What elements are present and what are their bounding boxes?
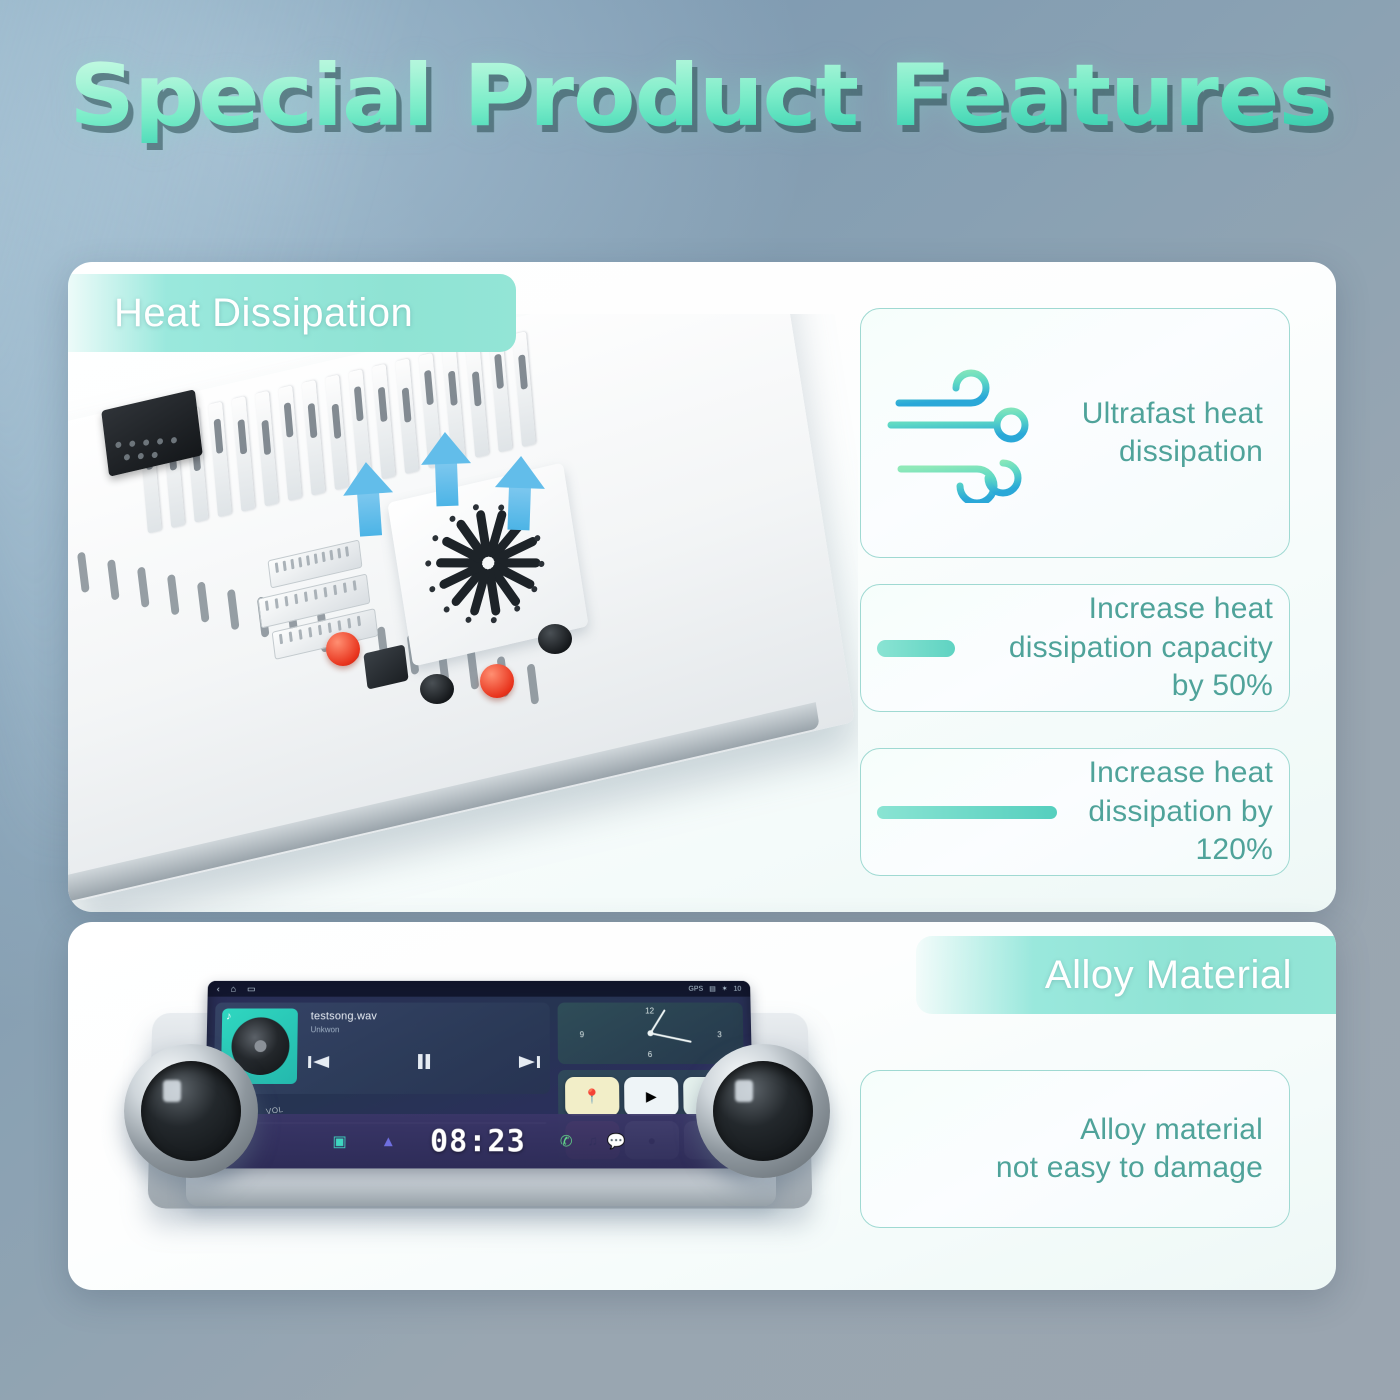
fan-grille-dot bbox=[429, 585, 436, 592]
feature-card-ultrafast-text: Ultrafast heat dissipation bbox=[1035, 395, 1263, 472]
feature-card-alloy-durability-text: Alloy material not easy to damage bbox=[996, 1111, 1263, 1188]
wind-icon bbox=[885, 363, 1035, 503]
fan-grille-dot bbox=[530, 585, 537, 592]
page-title-wrap: Special Product Features bbox=[0, 46, 1400, 146]
clock-center-pin bbox=[647, 1030, 653, 1036]
fan-grille-dot bbox=[425, 560, 432, 567]
capacity-50-line-1: Increase heat bbox=[1089, 592, 1273, 625]
fan-grille-dot bbox=[514, 605, 521, 612]
recents-icon[interactable]: ▭ bbox=[247, 984, 256, 993]
screen-dock-bar: ▣ ▲ 08:23 ✆ 💬 bbox=[204, 1114, 754, 1168]
alloy-material-badge-label: Alloy Material bbox=[1045, 953, 1292, 998]
dissipation-120-line-1: Increase heat bbox=[1089, 756, 1273, 789]
heat-dissipation-badge: Heat Dissipation bbox=[68, 274, 516, 352]
status-indicators: GPS ▤ ✶ 10 bbox=[688, 985, 741, 993]
screen-status-bar: ‹ ⌂ ▭ GPS ▤ ✶ 10 bbox=[208, 981, 751, 997]
playback-controls bbox=[308, 1054, 540, 1069]
clock-minute-hand bbox=[650, 1032, 691, 1042]
navigation-icon[interactable]: ▲ bbox=[381, 1133, 396, 1150]
pause-icon[interactable] bbox=[416, 1054, 432, 1069]
feature-card-alloy-durability: Alloy material not easy to damage bbox=[860, 1070, 1290, 1228]
short-bar-icon bbox=[877, 640, 955, 657]
chassis-vent bbox=[227, 589, 240, 631]
track-title: testsong.wav bbox=[311, 1010, 377, 1022]
feature-card-dissipation-120: Increase heat dissipation by 120% bbox=[860, 748, 1290, 876]
ultrafast-line-2: dissipation bbox=[1119, 435, 1263, 468]
clock-numeral-12: 12 bbox=[645, 1007, 654, 1016]
head-unit-screen: ‹ ⌂ ▭ GPS ▤ ✶ 10 ♪ testsong.wav Unkwon bbox=[204, 981, 754, 1169]
chassis-vent bbox=[137, 566, 150, 608]
page-title: Special Product Features bbox=[69, 46, 1331, 146]
apps-grid-icon[interactable]: ▣ bbox=[332, 1132, 346, 1150]
cooling-fan-grille bbox=[414, 489, 558, 639]
fan-grille-dot bbox=[538, 560, 545, 567]
volume-knob-left[interactable] bbox=[124, 1044, 258, 1178]
fan-grille-dot bbox=[432, 535, 439, 542]
capacity-50-line-2: dissipation capacity by 50% bbox=[1009, 631, 1273, 702]
alloy-material-panel: ‹ ⌂ ▭ GPS ▤ ✶ 10 ♪ testsong.wav Unkwon bbox=[68, 922, 1336, 1290]
feature-card-capacity-50-text: Increase heat dissipation capacity by 50… bbox=[973, 590, 1273, 705]
music-player-widget[interactable]: ♪ testsong.wav Unkwon bbox=[214, 1003, 551, 1094]
black-cap-1 bbox=[420, 674, 454, 704]
chassis-vent bbox=[167, 574, 180, 616]
black-cap-2 bbox=[538, 624, 572, 654]
clock-numeral-3: 3 bbox=[717, 1030, 722, 1039]
feature-card-capacity-50: Increase heat dissipation capacity by 50… bbox=[860, 584, 1290, 712]
heat-dissipation-product-photo bbox=[68, 314, 858, 912]
feature-card-dissipation-120-text: Increase heat dissipation by 120% bbox=[1073, 754, 1273, 869]
alloy-material-badge: Alloy Material bbox=[916, 936, 1336, 1014]
signal-indicator: ▤ bbox=[709, 985, 716, 993]
fan-grille-dot bbox=[449, 515, 456, 522]
clock-numeral-9: 9 bbox=[580, 1030, 585, 1039]
alloy-line-2: not easy to damage bbox=[996, 1151, 1263, 1184]
red-cap-2 bbox=[480, 664, 514, 698]
fan-grille-dot bbox=[490, 616, 497, 623]
red-cap-1 bbox=[326, 632, 360, 666]
message-icon[interactable]: 💬 bbox=[607, 1132, 626, 1150]
next-track-icon[interactable] bbox=[518, 1055, 540, 1069]
tune-knob-right[interactable] bbox=[696, 1044, 830, 1178]
chassis-vent bbox=[467, 648, 480, 690]
ultrafast-line-1: Ultrafast heat bbox=[1082, 397, 1263, 430]
alloy-line-1: Alloy material bbox=[1080, 1113, 1263, 1146]
home-icon[interactable]: ⌂ bbox=[231, 984, 237, 993]
chassis-vent bbox=[107, 559, 120, 601]
previous-track-icon[interactable] bbox=[308, 1055, 330, 1069]
analog-clock-widget[interactable]: 12 3 6 9 bbox=[558, 1003, 744, 1064]
feature-card-ultrafast: Ultrafast heat dissipation bbox=[860, 308, 1290, 558]
track-artist: Unkwon bbox=[311, 1025, 377, 1034]
long-bar-icon bbox=[877, 806, 1057, 819]
alloy-material-product-photo: ‹ ⌂ ▭ GPS ▤ ✶ 10 ♪ testsong.wav Unkwon bbox=[98, 956, 858, 1256]
heat-dissipation-badge-label: Heat Dissipation bbox=[114, 291, 413, 336]
dissipation-120-line-2: dissipation by 120% bbox=[1088, 795, 1273, 866]
battery-indicator: 10 bbox=[733, 985, 741, 992]
fan-grille-dot bbox=[465, 616, 472, 623]
clock-numeral-6: 6 bbox=[648, 1050, 653, 1059]
chassis-vent bbox=[527, 663, 540, 705]
fan-grille-dot bbox=[444, 605, 451, 612]
brightness-indicator: ✶ bbox=[722, 985, 728, 993]
track-info: testsong.wav Unkwon bbox=[311, 1010, 378, 1034]
gps-indicator: GPS bbox=[688, 985, 703, 992]
phone-icon[interactable]: ✆ bbox=[560, 1132, 573, 1150]
back-icon[interactable]: ‹ bbox=[217, 984, 220, 993]
maps-app[interactable]: 📍 bbox=[565, 1077, 619, 1116]
music-note-icon: ♪ bbox=[226, 1010, 232, 1022]
dock-clock: 08:23 bbox=[430, 1124, 526, 1159]
heat-dissipation-panel: Heat Dissipation bbox=[68, 262, 1336, 912]
chassis-vent bbox=[197, 581, 210, 623]
play-store-app[interactable]: ▶ bbox=[624, 1077, 679, 1116]
